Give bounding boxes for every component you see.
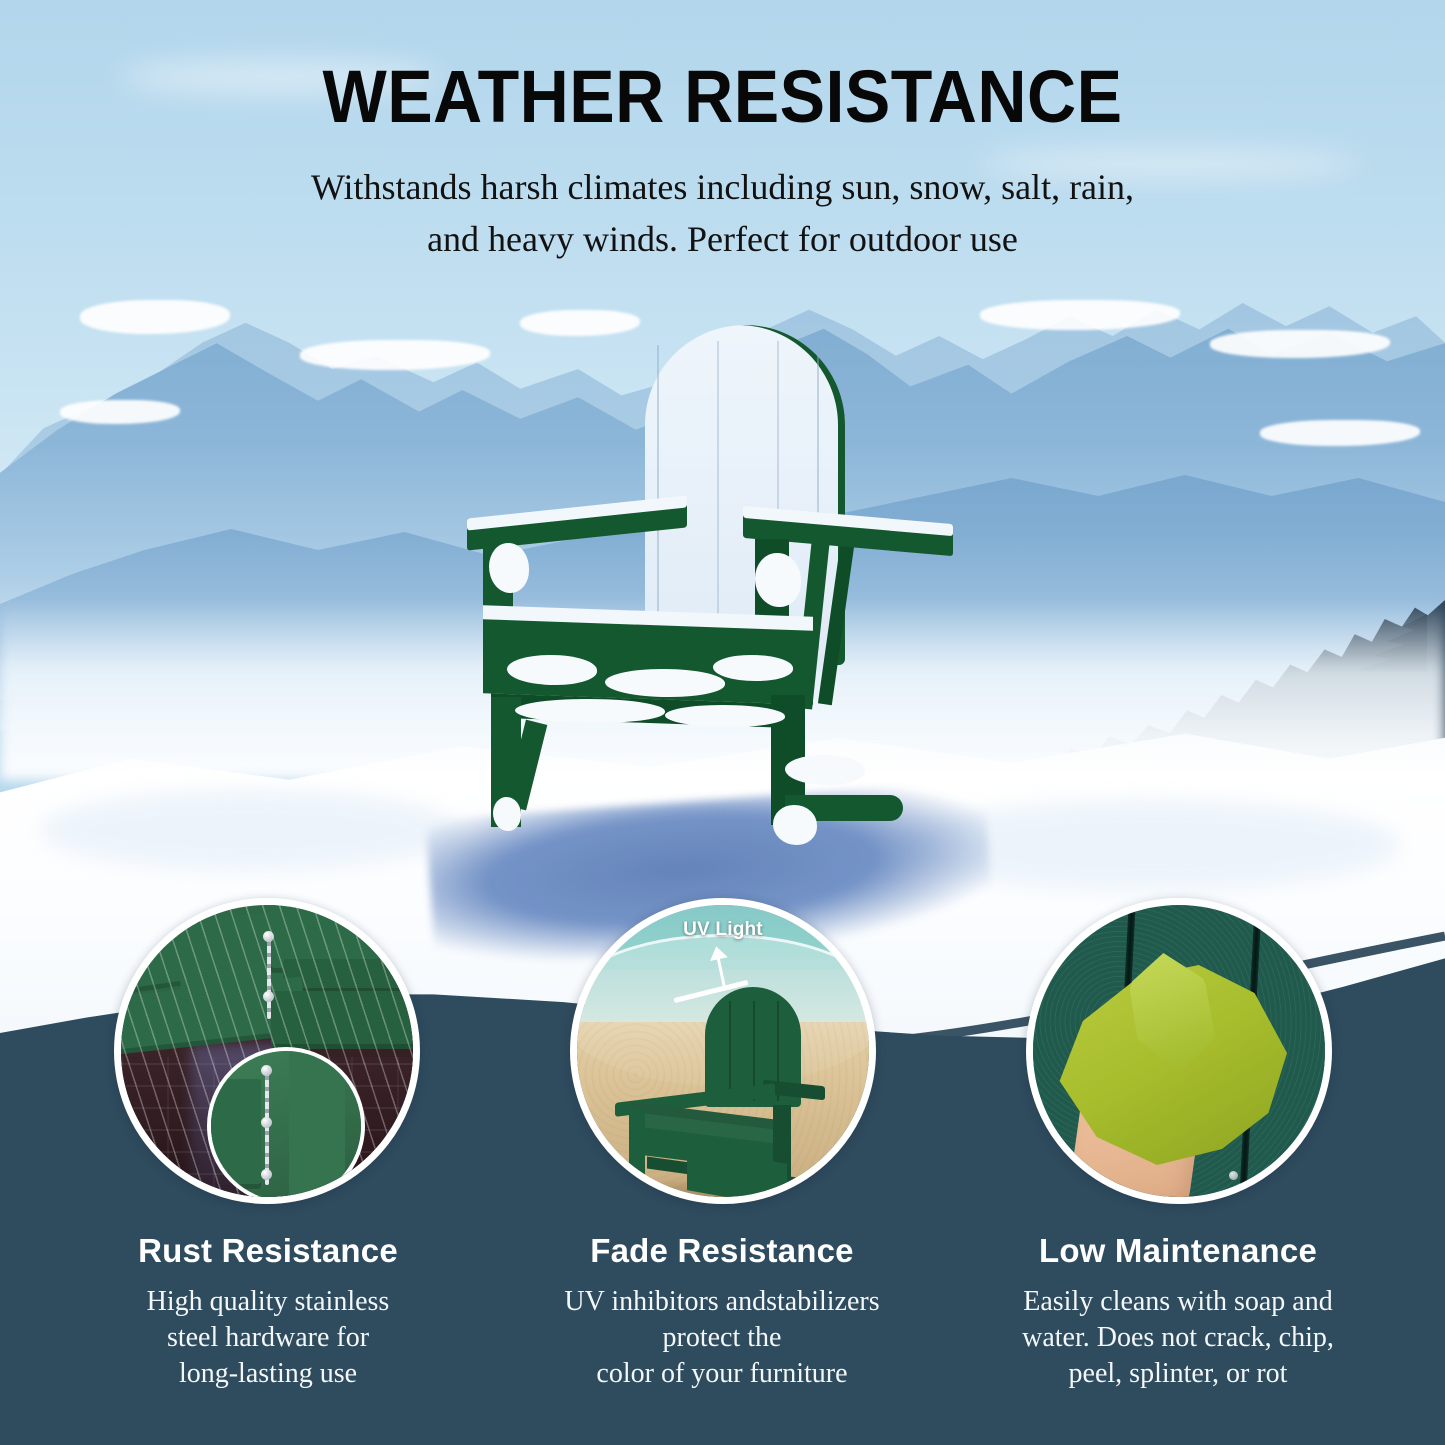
subtitle-line-1: Withstands harsh climates including sun,… bbox=[0, 162, 1445, 214]
inset-plank bbox=[289, 1051, 345, 1201]
feature-caption-fade-resistance: Fade Resistance UV inhibitors andstabili… bbox=[512, 1232, 932, 1391]
feature-body-line-2: protect the bbox=[663, 1322, 782, 1353]
feature-body-line-3: long-lasting use bbox=[179, 1358, 357, 1389]
beach-chair-leg-left bbox=[629, 1109, 645, 1189]
feature-title: Low Maintenance bbox=[968, 1232, 1388, 1270]
uv-light-label: UV Light bbox=[577, 919, 869, 941]
snow-patch bbox=[515, 699, 665, 723]
feature-body-line-3: color of your furniture bbox=[596, 1358, 847, 1389]
inset-plank bbox=[207, 1079, 261, 1189]
feature-body: UV inhibitors andstabilizers protect the… bbox=[512, 1284, 932, 1391]
feature-image-fade-resistance: UV Light bbox=[570, 898, 876, 1204]
snow-drift bbox=[40, 790, 460, 870]
header: WEATHER RESISTANCE Withstands harsh clim… bbox=[0, 58, 1445, 265]
feature-image-low-maintenance bbox=[1026, 898, 1332, 1204]
snow-patch bbox=[493, 797, 521, 831]
feature-body-line-1: UV inhibitors andstabilizers bbox=[564, 1286, 879, 1317]
feature-body-line-1: High quality stainless bbox=[147, 1286, 390, 1317]
snow-patch bbox=[755, 553, 801, 607]
weather-resistance-infographic: WEATHER RESISTANCE Withstands harsh clim… bbox=[0, 0, 1445, 1445]
feature-title: Fade Resistance bbox=[512, 1232, 932, 1270]
deck-screw bbox=[1229, 1171, 1238, 1180]
feature-image-rust-resistance bbox=[114, 898, 420, 1204]
feature-body-line-1: Easily cleans with soap and bbox=[1023, 1286, 1332, 1317]
feature-body: High quality stainless steel hardware fo… bbox=[58, 1284, 478, 1391]
hero-adirondack-chair bbox=[455, 325, 975, 845]
page-subtitle: Withstands harsh climates including sun,… bbox=[0, 162, 1445, 266]
feature-body-line-2: water. Does not crack, chip, bbox=[1022, 1322, 1334, 1353]
page-title: WEATHER RESISTANCE bbox=[58, 58, 1387, 136]
snow-patch bbox=[489, 543, 529, 593]
feature-caption-rust-resistance: Rust Resistance High quality stainless s… bbox=[58, 1232, 478, 1391]
feature-body-line-3: peel, splinter, or rot bbox=[1069, 1358, 1288, 1389]
snow-patch bbox=[507, 655, 597, 685]
feature-body-line-2: steel hardware for bbox=[167, 1322, 369, 1353]
snow-patch bbox=[773, 805, 817, 845]
feature-body: Easily cleans with soap and water. Does … bbox=[968, 1284, 1388, 1391]
inset-chain-link bbox=[261, 1169, 272, 1180]
inset-chain-link bbox=[261, 1117, 272, 1128]
backrest-slat bbox=[717, 341, 719, 657]
feature-caption-low-maintenance: Low Maintenance Easily cleans with soap … bbox=[968, 1232, 1388, 1391]
snow-patch bbox=[713, 655, 793, 681]
subtitle-line-2: and heavy winds. Perfect for outdoor use bbox=[0, 214, 1445, 266]
inset-zoom-circle bbox=[207, 1047, 365, 1204]
snow-patch bbox=[785, 755, 865, 785]
feature-title: Rust Resistance bbox=[58, 1232, 478, 1270]
beach-chair-slat bbox=[729, 1001, 731, 1101]
inset-chain-link bbox=[261, 1065, 272, 1076]
